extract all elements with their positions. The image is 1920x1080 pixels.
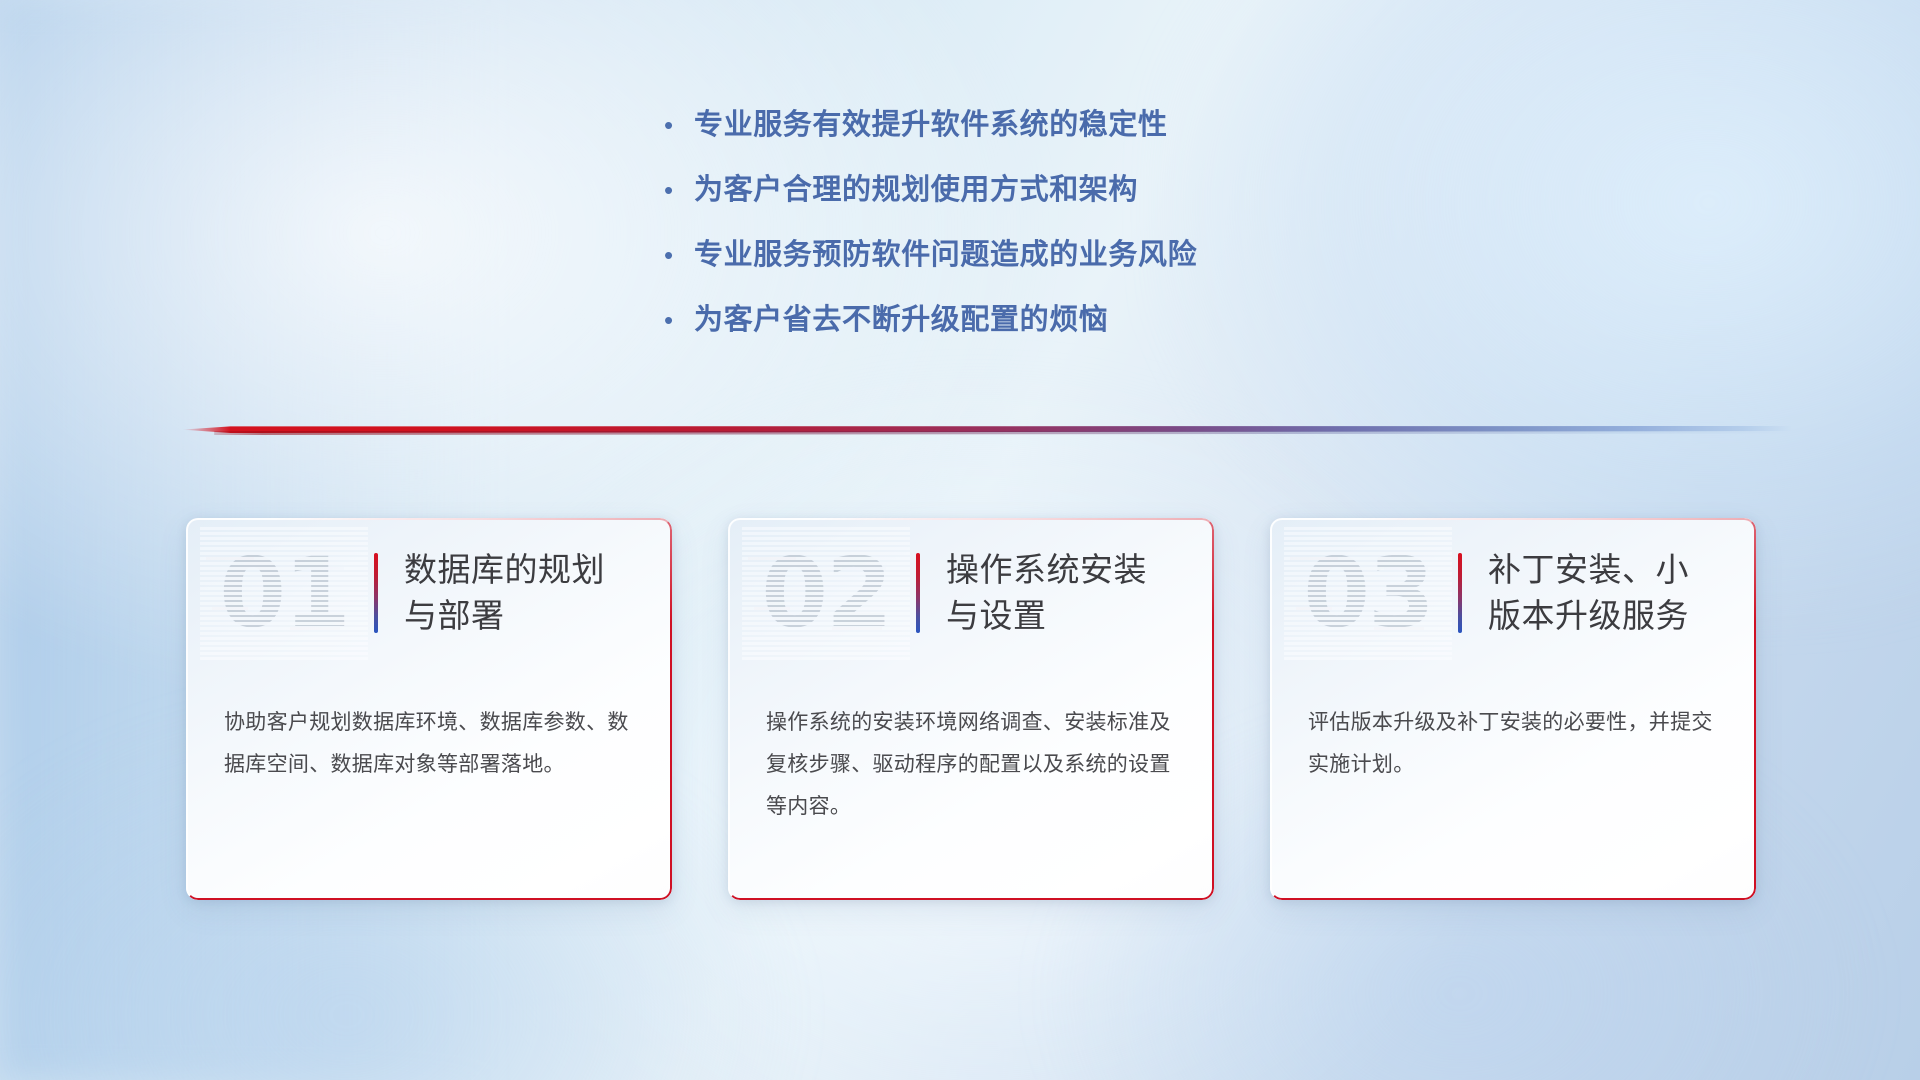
card-number-watermark: 03 — [1288, 531, 1448, 655]
number-red-streak-1 — [748, 557, 796, 560]
number-red-streak-2 — [1296, 607, 1332, 610]
card-description: 操作系统的安装环境网络调查、安装标准及复核步骤、驱动程序的配置以及系统的设置等内… — [728, 668, 1214, 828]
card-header: 03 补丁安装、小 版本升级服务 — [1270, 518, 1756, 668]
card-header: 01 数据库的规划 与部署 — [186, 518, 672, 668]
service-card-group: 01 数据库的规划 与部署 协助客户规划数据库环境、数据库参数、数据库空间、数据… — [186, 518, 1756, 900]
number-blue-streak-2 — [290, 627, 340, 630]
service-card[interactable]: 01 数据库的规划 与部署 协助客户规划数据库环境、数据库参数、数据库空间、数据… — [186, 518, 672, 900]
bullet-item-label: 为客户省去不断升级配置的烦恼 — [694, 303, 1108, 337]
bullet-point-icon: • — [660, 173, 694, 207]
benefits-bullet-list: • 专业服务有效提升软件系统的稳定性 • 为客户合理的规划使用方式和架构 • 专… — [660, 108, 1420, 368]
card-header: 02 操作系统安装 与设置 — [728, 518, 1214, 668]
number-red-streak-2 — [754, 607, 790, 610]
bullet-item: • 为客户省去不断升级配置的烦恼 — [660, 303, 1420, 368]
card-title: 补丁安装、小 版本升级服务 — [1488, 547, 1689, 639]
bullet-item: • 专业服务预防软件问题造成的业务风险 — [660, 238, 1420, 303]
bullet-item: • 专业服务有效提升软件系统的稳定性 — [660, 108, 1420, 173]
card-number-watermark: 02 — [746, 531, 906, 655]
card-accent-bar — [916, 553, 920, 633]
bullet-point-icon: • — [660, 238, 694, 272]
number-blue-streak-1 — [300, 567, 344, 570]
number-red-streak-2 — [212, 607, 248, 610]
section-divider — [182, 418, 1792, 440]
divider-shadow-line — [182, 431, 1792, 435]
bullet-item-label: 专业服务有效提升软件系统的稳定性 — [694, 108, 1168, 142]
bullet-item: • 为客户合理的规划使用方式和架构 — [660, 173, 1420, 238]
card-title: 操作系统安装 与设置 — [946, 547, 1147, 639]
bullet-item-label: 为客户合理的规划使用方式和架构 — [694, 173, 1138, 207]
card-title: 数据库的规划 与部署 — [404, 547, 605, 639]
card-accent-bar — [374, 553, 378, 633]
number-blue-streak-1 — [842, 567, 886, 570]
number-red-streak-1 — [206, 557, 254, 560]
number-red-streak-1 — [1290, 557, 1338, 560]
card-description: 协助客户规划数据库环境、数据库参数、数据库空间、数据库对象等部署落地。 — [186, 668, 672, 786]
bullet-point-icon: • — [660, 303, 694, 337]
bullet-point-icon: • — [660, 108, 694, 142]
number-blue-streak-1 — [1384, 567, 1428, 570]
card-accent-bar — [1458, 553, 1462, 633]
bullet-item-label: 专业服务预防软件问题造成的业务风险 — [694, 238, 1197, 272]
card-description: 评估版本升级及补丁安装的必要性，并提交实施计划。 — [1270, 668, 1756, 786]
number-blue-streak-2 — [832, 627, 882, 630]
service-card[interactable]: 02 操作系统安装 与设置 操作系统的安装环境网络调查、安装标准及复核步骤、驱动… — [728, 518, 1214, 900]
card-number-watermark: 01 — [204, 531, 364, 655]
number-blue-streak-2 — [1374, 627, 1424, 630]
service-card[interactable]: 03 补丁安装、小 版本升级服务 评估版本升级及补丁安装的必要性，并提交实施计划… — [1270, 518, 1756, 900]
